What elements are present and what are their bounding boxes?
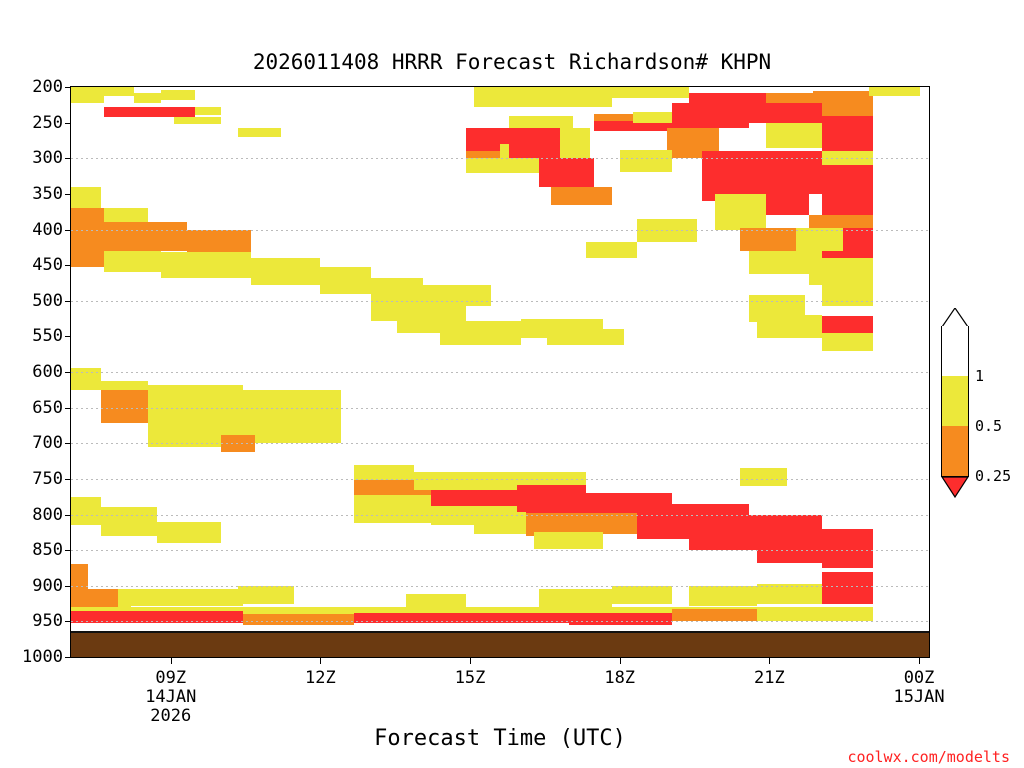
colorbar: 10.50.25: [941, 308, 969, 476]
colorbar-tick-label: 1: [975, 367, 984, 385]
heatmap-cell: [869, 86, 920, 96]
credit-text: coolwx.com/modelts: [847, 748, 1010, 766]
heatmap-cell: [612, 586, 672, 605]
colorbar-tick-label: 0.25: [975, 467, 1011, 485]
gridline: [71, 479, 929, 480]
y-tick-mark: [65, 443, 71, 444]
heatmap-cell: [161, 90, 195, 100]
heatmap-cell: [715, 194, 766, 230]
heatmap-cell: [813, 91, 873, 116]
gridline: [71, 586, 929, 587]
heatmap-cell: [757, 584, 821, 603]
heatmap-cell: [672, 609, 758, 622]
y-tick-mark: [65, 408, 71, 409]
gridline: [71, 621, 929, 622]
heatmap-cell: [187, 230, 251, 253]
x-tick-label: 18Z: [604, 669, 635, 688]
heatmap-cell: [423, 285, 492, 306]
x-tick-mark: [320, 657, 321, 664]
colorbar-segment: [941, 426, 969, 476]
y-tick-label: 400: [32, 220, 63, 240]
colorbar-tick-label: 0.5: [975, 417, 1002, 435]
x-tick-mark: [171, 657, 172, 664]
heatmap-cell: [406, 594, 466, 608]
heatmap-cell: [672, 103, 749, 129]
chart-root: 2026011408 HRRR Forecast Richardson# KHP…: [0, 0, 1024, 768]
y-tick-label: 1000: [22, 647, 63, 667]
heatmap-cell: [148, 385, 242, 423]
x-tick-label: 21Z: [754, 669, 785, 688]
y-tick-label: 450: [32, 255, 63, 275]
heatmap-cell: [740, 228, 796, 251]
y-tick-mark: [65, 336, 71, 337]
y-tick-mark: [65, 123, 71, 124]
heatmap-cell: [766, 126, 822, 147]
heatmap-cell: [238, 586, 294, 604]
y-tick-label: 900: [32, 576, 63, 596]
y-tick-label: 500: [32, 291, 63, 311]
heatmap-cell: [101, 507, 157, 536]
x-tick-mark: [470, 657, 471, 664]
y-tick-mark: [65, 230, 71, 231]
y-tick-mark: [65, 301, 71, 302]
heatmap-cell: [822, 572, 873, 604]
x-axis-label: Forecast Time (UTC): [70, 726, 930, 751]
heatmap-cell: [104, 251, 161, 272]
heatmap-cell: [320, 267, 371, 294]
heatmap-cell: [101, 390, 148, 423]
heatmap-cell: [757, 315, 821, 338]
heatmap-cell: [243, 614, 355, 625]
heatmap-cell: [689, 525, 758, 550]
gridline: [71, 515, 929, 516]
heatmap-cell: [766, 194, 809, 215]
colorbar-segment: [941, 376, 969, 426]
terrain-band: [71, 631, 929, 657]
y-tick-label: 850: [32, 540, 63, 560]
heatmap-cell: [822, 333, 873, 351]
gridline: [71, 550, 929, 551]
gridline: [71, 372, 929, 373]
heatmap-cell: [612, 86, 689, 98]
y-tick-label: 800: [32, 505, 63, 525]
heatmap-cell: [539, 158, 595, 187]
y-tick-mark: [65, 657, 71, 658]
y-tick-mark: [65, 265, 71, 266]
heatmap-cell: [689, 586, 758, 606]
y-tick-mark: [65, 372, 71, 373]
heatmap-cell: [104, 107, 196, 117]
y-tick-label: 650: [32, 398, 63, 418]
heatmap-cell: [569, 613, 672, 625]
heatmap-cell: [440, 321, 522, 345]
heatmap-cell: [104, 87, 134, 96]
y-tick-mark: [65, 194, 71, 195]
y-tick-mark: [65, 158, 71, 159]
y-tick-label: 350: [32, 184, 63, 204]
heatmap-cell: [354, 495, 431, 524]
y-tick-mark: [65, 515, 71, 516]
heatmap-cell: [174, 117, 221, 124]
x-tick-label: 15Z: [455, 669, 486, 688]
heatmap-cell: [757, 607, 873, 621]
heatmap-cell: [104, 222, 187, 251]
terrain-top-line: [71, 631, 929, 633]
heatmap-cell: [238, 128, 281, 137]
x-tick-label: 00Z15JAN: [893, 669, 944, 707]
heatmap-cell: [822, 529, 873, 568]
y-tick-mark: [65, 479, 71, 480]
y-tick-label: 550: [32, 326, 63, 346]
heatmap-cell: [796, 228, 843, 251]
heatmap-cell: [104, 208, 149, 222]
heatmap-cell: [689, 93, 766, 103]
heatmap-cell: [539, 589, 612, 608]
heatmap-cell: [251, 258, 320, 285]
y-tick-label: 700: [32, 433, 63, 453]
x-tick-mark: [769, 657, 770, 664]
heatmap-cell: [431, 487, 517, 507]
y-tick-mark: [65, 621, 71, 622]
heatmap-cell: [131, 589, 243, 605]
heatmap-cell: [71, 208, 104, 266]
heatmap-cell: [517, 485, 586, 515]
y-tick-label: 600: [32, 362, 63, 382]
heatmap-cell: [809, 258, 873, 285]
heatmap-cell: [749, 103, 822, 123]
gridline: [71, 301, 929, 302]
heatmap-cell: [195, 107, 221, 116]
heatmap-cell: [157, 522, 221, 543]
heatmap-cell: [71, 497, 101, 526]
heatmap-cell: [71, 187, 101, 208]
heatmap-cell: [134, 93, 161, 103]
heatmap-cell: [757, 539, 821, 563]
heatmap-cell: [71, 589, 118, 607]
gridline: [71, 408, 929, 409]
x-tick-mark: [919, 657, 920, 664]
colorbar-top-arrow: [941, 308, 969, 328]
y-tick-label: 200: [32, 77, 63, 97]
heatmap-cell: [547, 329, 624, 345]
heatmap-cell: [161, 252, 251, 278]
colorbar-segment: [941, 326, 969, 376]
y-tick-label: 250: [32, 113, 63, 133]
x-tick-label: 12Z: [305, 669, 336, 688]
colorbar-bottom-arrow: [941, 476, 969, 498]
y-tick-mark: [65, 586, 71, 587]
y-tick-label: 950: [32, 611, 63, 631]
heatmap-cell: [71, 87, 104, 103]
heatmap-cell: [822, 116, 873, 152]
heatmap-cell: [371, 278, 422, 301]
heatmap-cell: [586, 493, 672, 514]
heatmap-cell: [509, 116, 573, 129]
y-tick-mark: [65, 87, 71, 88]
heatmap-cell: [822, 285, 873, 306]
x-tick-label: 09Z14JAN2026: [145, 669, 196, 726]
heatmap-cell: [551, 187, 611, 205]
heatmap-cell: [740, 468, 787, 486]
y-tick-label: 750: [32, 469, 63, 489]
gridline: [71, 230, 929, 231]
heatmap-cell: [243, 390, 342, 443]
heatmap-cell: [534, 532, 603, 549]
heatmap-cell: [586, 242, 637, 258]
x-tick-mark: [620, 657, 621, 664]
heatmap-cell: [637, 219, 697, 243]
heatmap-cell: [620, 150, 671, 173]
heatmap-cell: [509, 128, 560, 158]
heatmap-cell: [474, 86, 611, 107]
plot-area: [70, 86, 930, 658]
gridline: [71, 158, 929, 159]
gridline: [71, 443, 929, 444]
y-tick-label: 300: [32, 148, 63, 168]
chart-title: 2026011408 HRRR Forecast Richardson# KHP…: [0, 50, 1024, 74]
y-tick-mark: [65, 550, 71, 551]
